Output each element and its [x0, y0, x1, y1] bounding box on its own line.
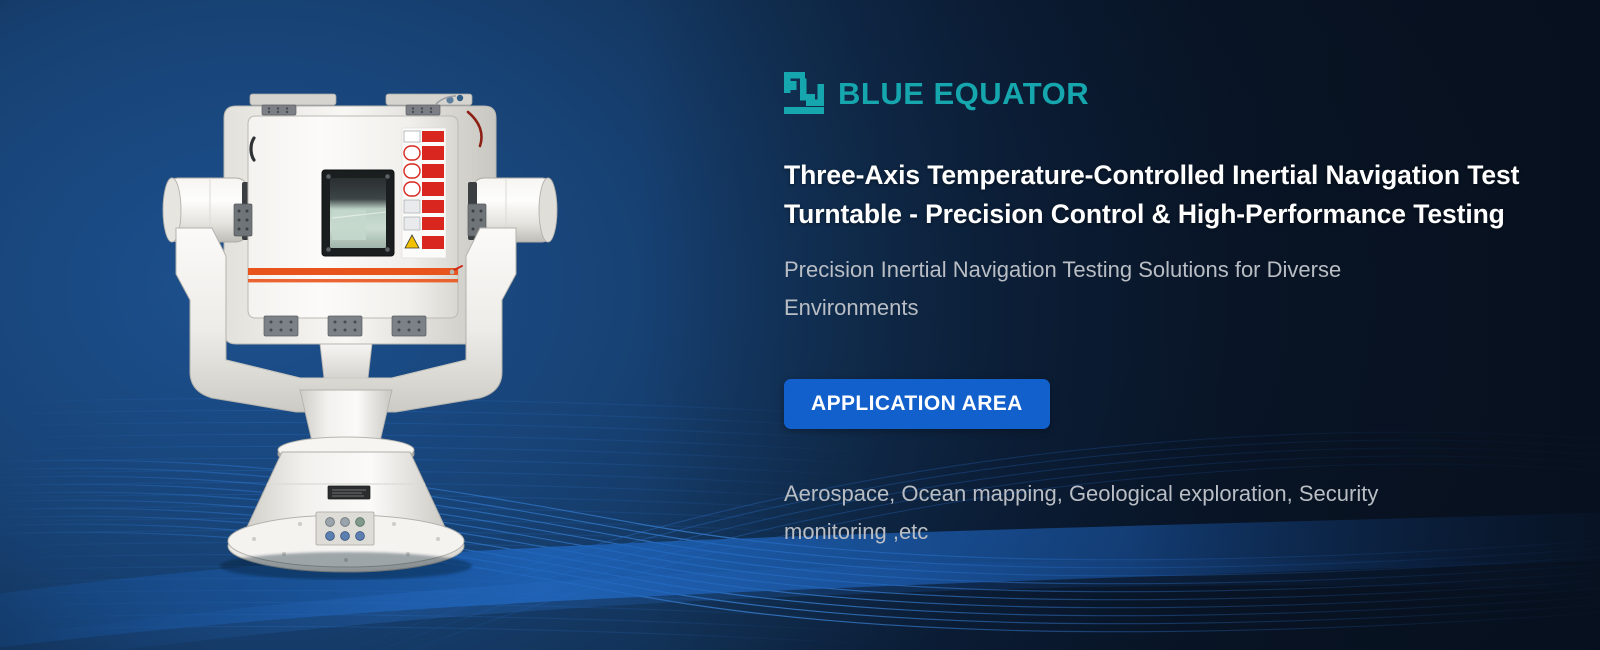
safety-label-column	[402, 128, 446, 258]
product-hero-banner: BLUE EQUATOR Three-Axis Temperature-Cont…	[0, 0, 1600, 650]
brand-name: BLUE EQUATOR	[838, 78, 1089, 109]
page-title: Three-Axis Temperature-Controlled Inerti…	[784, 156, 1524, 233]
blue-equator-logo-icon	[784, 72, 824, 114]
application-area-list: Aerospace, Ocean mapping, Geological exp…	[784, 475, 1484, 551]
connector-panel	[316, 512, 374, 545]
page-subtitle: Precision Inertial Navigation Testing So…	[784, 251, 1444, 327]
hero-content: BLUE EQUATOR Three-Axis Temperature-Cont…	[784, 72, 1554, 551]
application-area-button[interactable]: APPLICATION AREA	[784, 379, 1050, 429]
brand-lockup: BLUE EQUATOR	[784, 72, 1554, 114]
product-image-turntable	[150, 60, 620, 580]
